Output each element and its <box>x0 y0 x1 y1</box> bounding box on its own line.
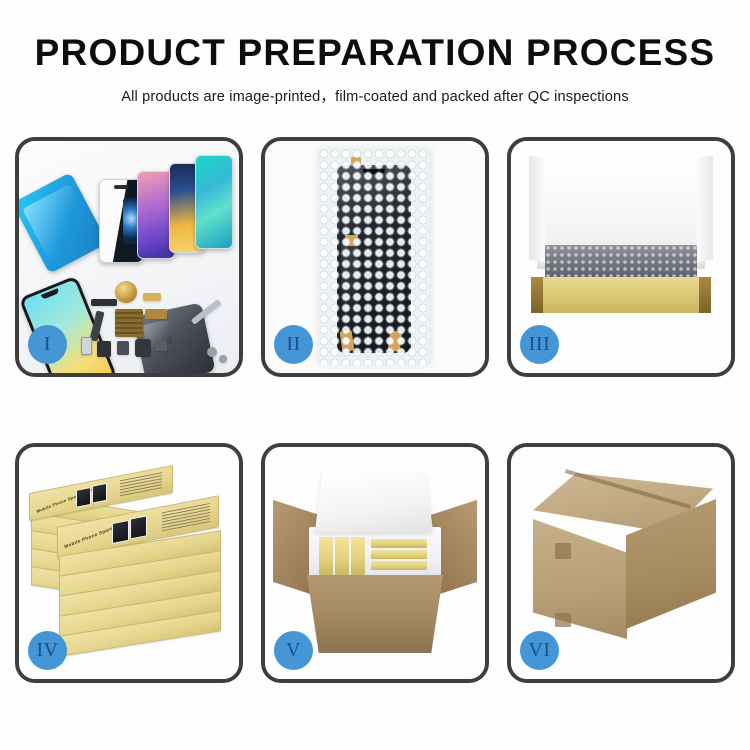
part-small-bracket <box>155 341 167 351</box>
inner-box-5 <box>371 550 427 559</box>
box-thumb-rear-1 <box>76 487 91 508</box>
inner-box-1 <box>319 537 333 575</box>
step-badge-3: III <box>520 325 559 364</box>
part-taptic-engine <box>135 339 151 357</box>
part-sim-tray <box>81 337 92 355</box>
inner-box-6 <box>371 561 427 570</box>
page-subtitle: All products are image-printed，film-coat… <box>0 85 750 106</box>
part-gold-flex-strip <box>143 293 161 301</box>
carton-tape-upper <box>555 543 571 559</box>
part-vibration-motor <box>115 281 137 303</box>
part-logic-board-grid <box>115 309 143 337</box>
page-title: PRODUCT PREPARATION PROCESS <box>0 34 750 73</box>
part-screw-1 <box>207 347 217 357</box>
product-preparation-infographic: PRODUCT PREPARATION PROCESS All products… <box>0 0 750 750</box>
bubble-padding-layer <box>545 245 697 281</box>
carton-body <box>301 575 449 653</box>
part-screw-2 <box>219 355 227 363</box>
steps-grid: I II <box>15 137 735 683</box>
step-badge-2: II <box>274 325 313 364</box>
step-panel-1[interactable]: I <box>15 137 243 377</box>
phone-teal-gradient <box>195 155 233 249</box>
bubble-wrap-bag <box>319 149 431 365</box>
step-badge-4: IV <box>28 631 67 670</box>
bubble-texture <box>319 149 431 365</box>
step-panel-3[interactable]: III <box>507 137 735 377</box>
inner-box-3 <box>351 537 365 575</box>
step-panel-2[interactable]: II <box>261 137 489 377</box>
part-antenna-strip <box>145 309 167 319</box>
step-badge-5: V <box>274 631 313 670</box>
step-badge-1: I <box>28 325 67 364</box>
box-spec-lines-rear <box>120 472 162 497</box>
box-thumb-rear-2 <box>92 483 107 504</box>
step-badge-6: VI <box>520 631 559 670</box>
part-speaker-module <box>97 341 111 357</box>
box-spec-lines-front <box>162 503 210 531</box>
carton-tape-lower <box>555 613 571 627</box>
yellow-box-tray <box>531 277 711 313</box>
header: PRODUCT PREPARATION PROCESS All products… <box>0 34 750 106</box>
step-panel-5[interactable]: V <box>261 443 489 683</box>
box-thumb-front-1 <box>112 520 129 544</box>
step-panel-6[interactable]: VI <box>507 443 735 683</box>
step-panel-4[interactable]: Mobile Phone Spare Parts Mobile Phone Sp… <box>15 443 243 683</box>
inner-box-4 <box>371 539 427 548</box>
box-thumb-front-2 <box>130 515 147 539</box>
foam-box-lid <box>315 472 433 532</box>
inner-box-2 <box>335 537 349 575</box>
part-camera-module <box>117 341 129 355</box>
part-battery-connector <box>91 299 117 306</box>
